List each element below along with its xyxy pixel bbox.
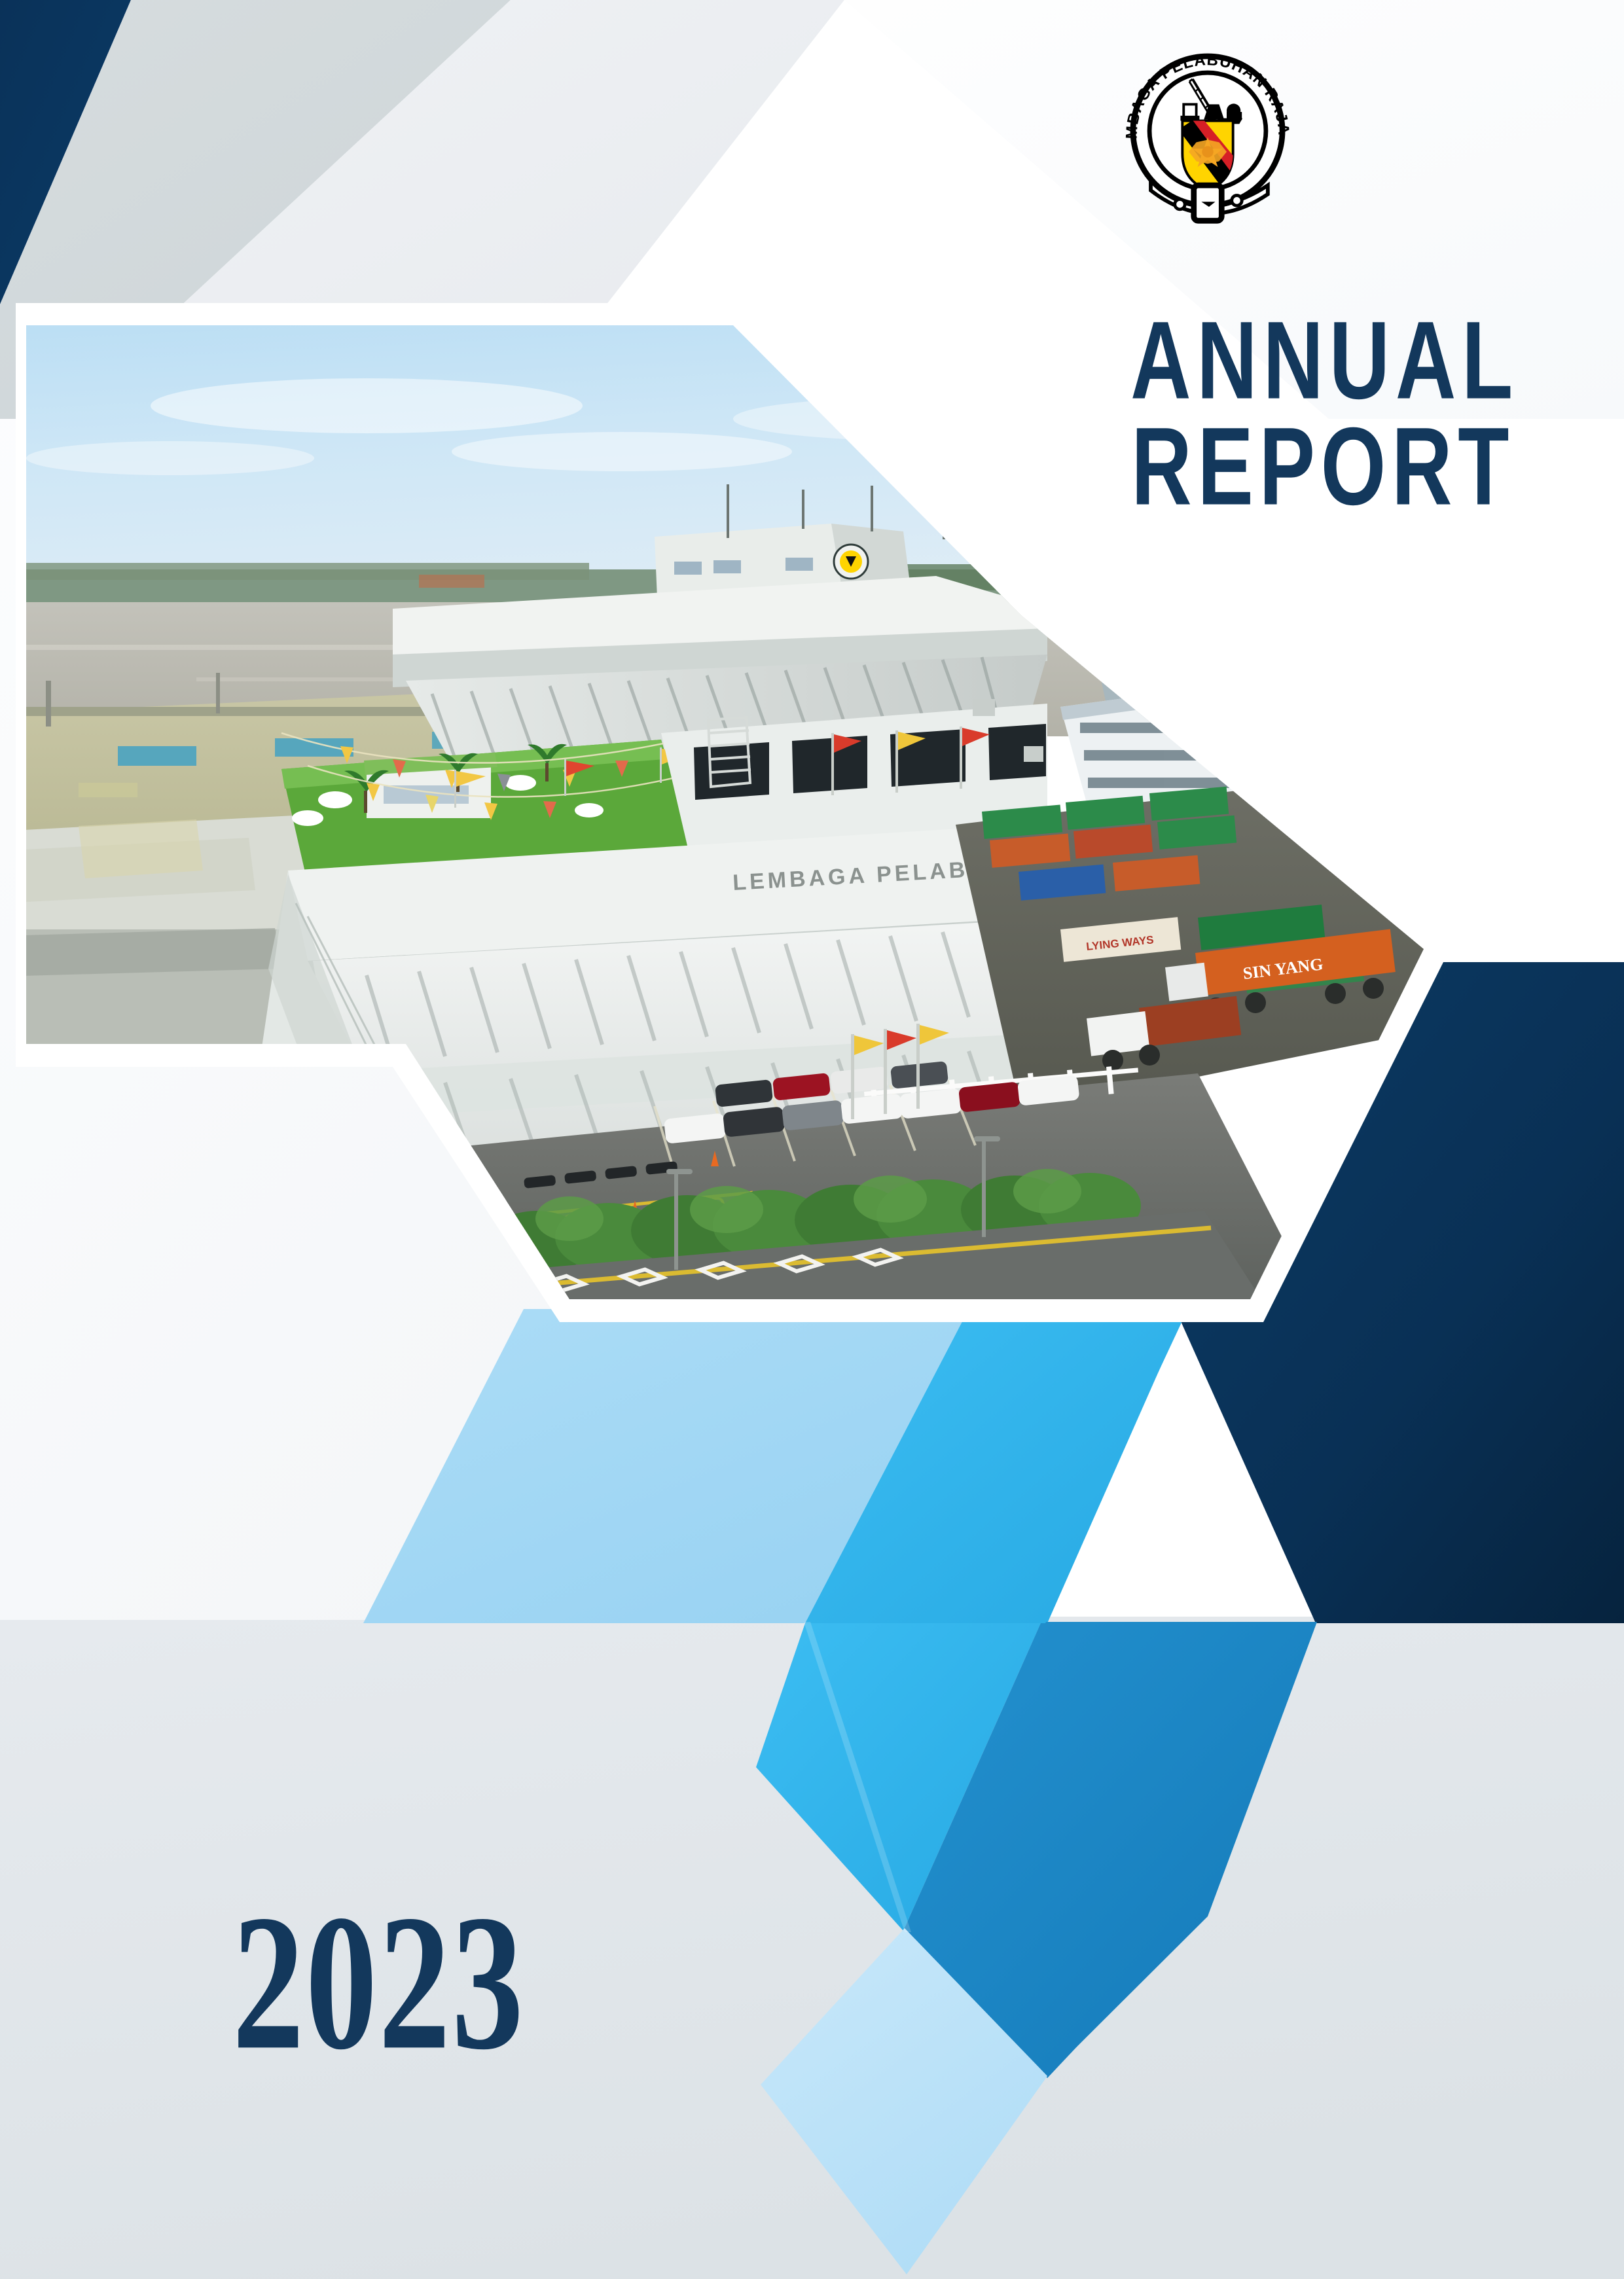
lembaga-pelabuhan-rajang-logo: LEMBAGA PELABUHAN RAJANG (1113, 36, 1303, 226)
annual-report-cover-page: LEMBAGA PELABUHAN RAJANG (0, 0, 1624, 2279)
cover-year: 2023 (232, 1885, 525, 2079)
cover-title-block: ANNUAL REPORT (995, 308, 1519, 520)
page-title-line-report: REPORT (1011, 399, 1519, 535)
